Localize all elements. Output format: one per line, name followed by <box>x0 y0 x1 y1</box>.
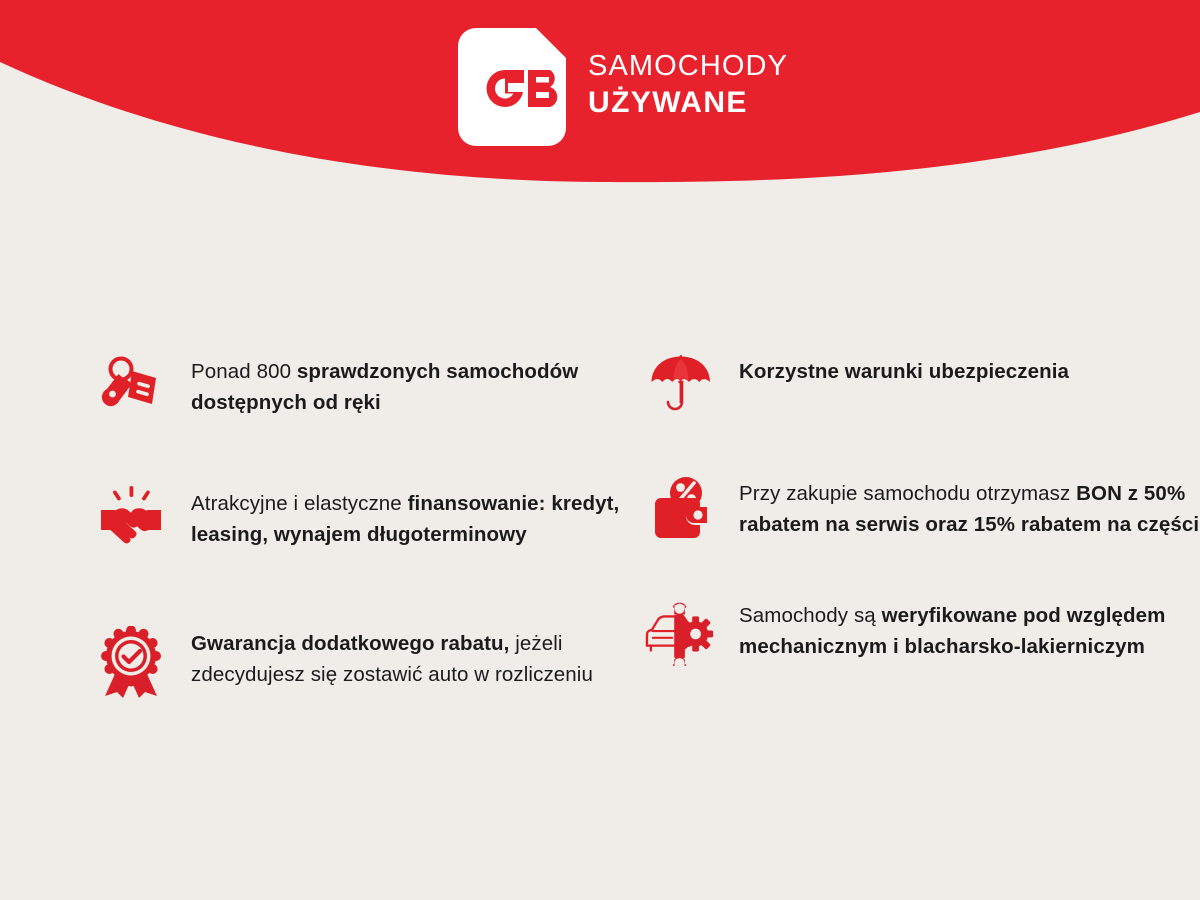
feature-item-cars-available: Ponad 800 sprawdzonych samochodów dostęp… <box>95 350 645 422</box>
feature-item-service-voucher: Przy zakupie samochodu otrzymasz BON z 5… <box>645 472 1200 544</box>
feature-text: Samochody są weryfikowane pod względem m… <box>739 594 1200 662</box>
car-key-tag-icon <box>95 350 167 422</box>
feature-text: Korzystne warunki ubezpieczenia <box>739 350 1069 387</box>
brand-lockup[interactable]: GB SAMOCHODY UŻYWANE <box>458 28 788 146</box>
feature-text: Ponad 800 sprawdzonych samochodów dostęp… <box>191 350 645 418</box>
logo-mark-letters: GB <box>458 28 566 146</box>
brand-line-samochody: SAMOCHODY <box>588 52 788 81</box>
feature-item-trade-in-discount: Gwarancja dodatkowego rabatu, jeżeli zde… <box>95 622 645 694</box>
wallet-percent-icon <box>645 472 717 544</box>
gb-logo-mark[interactable]: GB <box>458 28 566 146</box>
feature-column-left: Ponad 800 sprawdzonych samochodów dostęp… <box>95 330 645 716</box>
umbrella-icon <box>645 350 717 422</box>
feature-text-segment: Korzystne warunki ubezpieczenia <box>739 360 1069 383</box>
award-rosette-check-icon <box>95 622 167 694</box>
feature-text-segment: Atrakcyjne i elastyczne <box>191 492 408 515</box>
feature-item-verified-cars: Samochody są weryfikowane pod względem m… <box>645 594 1200 666</box>
feature-text: Atrakcyjne i elastyczne finansowanie: kr… <box>191 482 645 550</box>
car-wrench-gear-icon <box>645 594 717 666</box>
feature-text-segment: Gwarancja dodatkowego rabatu, <box>191 632 515 655</box>
feature-text-segment: Ponad 800 <box>191 360 297 383</box>
feature-text-segment: Przy zakupie samochodu otrzymasz <box>739 482 1076 505</box>
feature-grid: Ponad 800 sprawdzonych samochodów dostęp… <box>0 330 1200 716</box>
feature-text: Gwarancja dodatkowego rabatu, jeżeli zde… <box>191 622 645 690</box>
feature-item-insurance: Korzystne warunki ubezpieczenia <box>645 350 1200 422</box>
feature-text: Przy zakupie samochodu otrzymasz BON z 5… <box>739 472 1200 540</box>
brand-wordmark: SAMOCHODY UŻYWANE <box>588 52 788 122</box>
feature-text-segment: Samochody są <box>739 604 882 627</box>
feature-item-financing: Atrakcyjne i elastyczne finansowanie: kr… <box>95 482 645 554</box>
header-banner: GB SAMOCHODY UŻYWANE <box>0 0 1200 190</box>
handshake-icon <box>95 482 167 554</box>
brand-line-uzywane: UŻYWANE <box>588 88 788 118</box>
feature-column-right: Korzystne warunki ubezpieczenia <box>645 330 1200 716</box>
